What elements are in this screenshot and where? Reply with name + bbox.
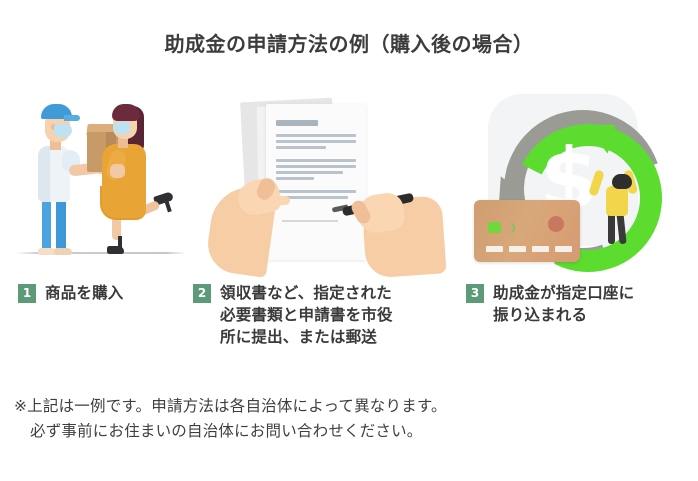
step-2-label-line-2: 必要書類と申請書を市役 — [220, 306, 393, 324]
delivery-man-left-leg-icon — [42, 196, 51, 252]
step-3-badge: 3 — [466, 284, 484, 303]
step-3-column: $ — [466, 88, 688, 274]
step-1-column — [14, 88, 190, 274]
step-2-label: 領収書など、指定された 必要書類と申請書を市役 所に提出、または郵送 — [220, 282, 393, 348]
step-3-caption: 3 助成金が指定口座に 振り込まれる — [466, 282, 696, 326]
delivery-handover-illustration — [14, 88, 190, 274]
person-left-leg-icon — [608, 212, 615, 244]
delivery-man-right-leg-icon — [56, 196, 66, 252]
delivery-man-right-shoe-icon — [54, 248, 72, 255]
card-number-blocks-icon — [486, 246, 572, 252]
step-2-column — [196, 88, 458, 274]
step-1-caption: 1 商品を購入 — [18, 282, 198, 304]
card-contactless-icon — [504, 222, 515, 233]
credit-card-icon — [474, 200, 580, 262]
page-title: 助成金の申請方法の例（購入後の場合） — [0, 28, 698, 57]
woman-left-shoe-icon — [107, 246, 124, 254]
document-text-lines-icon — [276, 120, 356, 202]
step-2-caption: 2 領収書など、指定された 必要書類と申請書を市役 所に提出、または郵送 — [193, 282, 463, 348]
step-2-badge: 2 — [193, 284, 211, 303]
cashback-illustration: $ — [466, 88, 688, 274]
footnote-line-1: ※上記は一例です。申請方法は各自治体によって異なります。 — [14, 397, 447, 415]
woman-face-mask-icon — [113, 122, 130, 134]
footnote-line-2: 必ず事前にお住まいの自治体にお問い合わせください。 — [14, 419, 447, 444]
left-hand-finger-icon — [268, 196, 290, 205]
step-1-label: 商品を購入 — [45, 282, 124, 304]
person-body-icon — [606, 186, 628, 216]
card-chip-icon — [488, 222, 501, 233]
card-logo-icon — [548, 216, 564, 232]
step-3-label-line-2: 振り込まれる — [493, 306, 587, 324]
document-signing-illustration — [196, 88, 458, 274]
woman-hair-top-icon — [112, 104, 140, 121]
step-2-label-line-1: 領収書など、指定された — [220, 284, 392, 302]
delivery-man-torso-shade-icon — [38, 146, 50, 202]
delivery-man-face-mask-icon — [54, 124, 72, 137]
woman-right-heel-icon — [164, 200, 172, 213]
step-3-label-line-1: 助成金が指定口座に — [493, 284, 634, 302]
step-1-badge: 1 — [18, 284, 36, 303]
woman-hand-icon — [110, 164, 125, 178]
delivery-man-cap-brim-icon — [64, 115, 80, 121]
step-2-label-line-3: 所に提出、または郵送 — [220, 328, 377, 346]
step-3-label: 助成金が指定口座に 振り込まれる — [493, 282, 634, 326]
signature-line-icon — [282, 220, 338, 222]
person-head-icon — [612, 174, 632, 189]
footnote: ※上記は一例です。申請方法は各自治体によって異なります。 必ず事前にお住まいの自… — [14, 394, 447, 444]
